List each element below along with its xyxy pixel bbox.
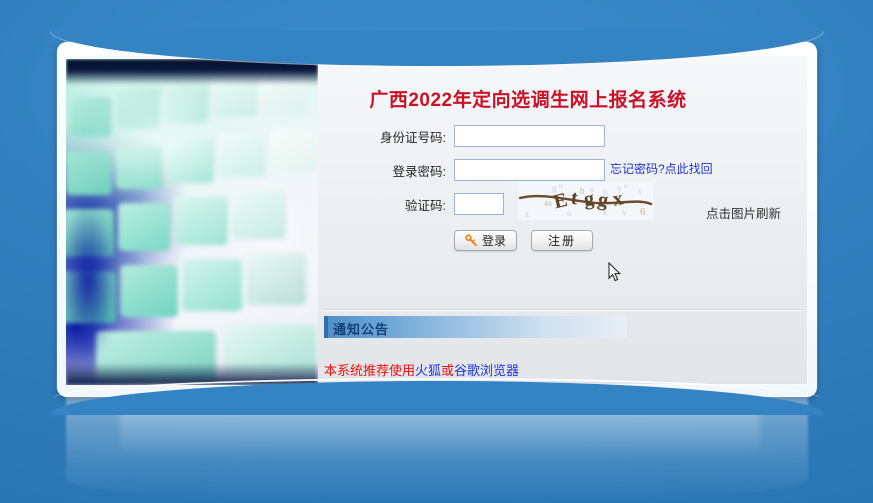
password-row: 登录密码: xyxy=(318,157,605,183)
forgot-password-link[interactable]: 忘记密码?点此找回 xyxy=(610,160,713,177)
register-button-label: 注册 xyxy=(548,232,576,249)
page-title: 广西2022年定向选调生网上报名系统 xyxy=(318,85,738,112)
idcard-input[interactable] xyxy=(454,125,605,147)
keyboard-photo xyxy=(66,59,318,385)
login-button[interactable]: 登录 xyxy=(454,230,517,251)
idcard-label: 身份证号码: xyxy=(318,127,454,146)
browser-note-prefix: 本系统推荐使用 xyxy=(324,363,415,378)
chrome-link[interactable]: 谷歌浏览器 xyxy=(454,363,519,378)
password-input[interactable] xyxy=(454,159,605,181)
register-button[interactable]: 注册 xyxy=(531,230,593,251)
keyboard-photo-highlight xyxy=(86,79,232,190)
keyboard-photo-shadow xyxy=(66,170,130,385)
browser-note-conjunction: 或 xyxy=(441,363,454,378)
captcha-row: 验证码: xyxy=(318,191,504,217)
captcha-image[interactable]: g u b s h v u s 4x a z u k v 6 E t xyxy=(518,182,653,220)
idcard-row: 身份证号码: xyxy=(318,123,605,149)
notice-section-header: 通知公告 xyxy=(324,316,627,338)
form-button-row: 登录 注册 xyxy=(454,230,593,251)
login-button-label: 登录 xyxy=(482,232,506,249)
captcha-refresh-hint: 点击图片刷新 xyxy=(706,203,781,222)
browser-recommendation: 本系统推荐使用火狐或谷歌浏览器 xyxy=(324,360,519,379)
notice-section-title: 通知公告 xyxy=(333,319,389,338)
firefox-link[interactable]: 火狐 xyxy=(415,363,441,378)
section-separator xyxy=(324,310,802,311)
password-label: 登录密码: xyxy=(318,161,454,180)
login-panel-frame: 广西2022年定向选调生网上报名系统 身份证号码: 登录密码: 忘记密码?点此找… xyxy=(57,42,817,397)
key-icon xyxy=(465,234,478,247)
notice-header-accent xyxy=(324,316,328,338)
captcha-label: 验证码: xyxy=(318,195,454,214)
login-panel-inner: 广西2022年定向选调生网上报名系统 身份证号码: 登录密码: 忘记密码?点此找… xyxy=(66,55,808,385)
captcha-input[interactable] xyxy=(454,193,504,215)
